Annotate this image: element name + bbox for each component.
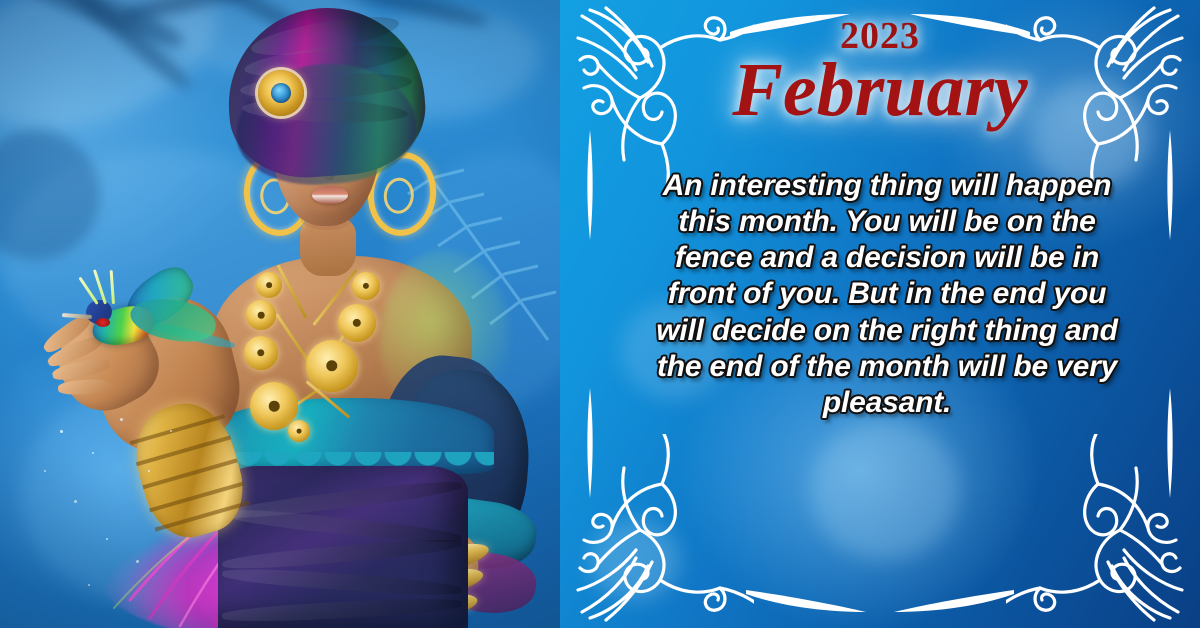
fortune-teller-illustration — [0, 0, 600, 628]
necklace-medallion — [256, 272, 282, 298]
month-title: February — [560, 52, 1200, 128]
ornament-spike-left-lower — [570, 388, 610, 498]
chin-shadow — [300, 206, 354, 230]
ornament-spike-right-upper — [1150, 130, 1190, 240]
ornament-spike-left-upper — [570, 130, 610, 240]
bokeh-glow — [590, 520, 680, 600]
ornament-wisp-bottom-right — [894, 588, 1014, 614]
woman-figure — [0, 0, 600, 628]
necklace-medallion — [306, 340, 358, 392]
necklace-medallion — [338, 304, 376, 342]
horoscope-card: 2023 February An interesting thing will … — [0, 0, 1200, 628]
bokeh-glow — [810, 420, 960, 560]
horoscope-body-text: An interesting thing will happen this mo… — [652, 168, 1122, 421]
ornament-spike-right-lower — [1150, 388, 1190, 498]
hummingbird-crest — [110, 270, 115, 304]
necklace-pendant — [288, 420, 310, 442]
ornament-wisp-bottom-left — [746, 588, 866, 614]
turban-jewel-brooch — [258, 70, 304, 116]
necklace-medallion — [352, 272, 380, 300]
necklace-medallion — [244, 336, 278, 370]
hummingbird-throat-patch — [96, 318, 110, 327]
text-panel: 2023 February An interesting thing will … — [560, 0, 1200, 628]
necklace-medallion — [246, 300, 276, 330]
lips — [312, 186, 348, 204]
